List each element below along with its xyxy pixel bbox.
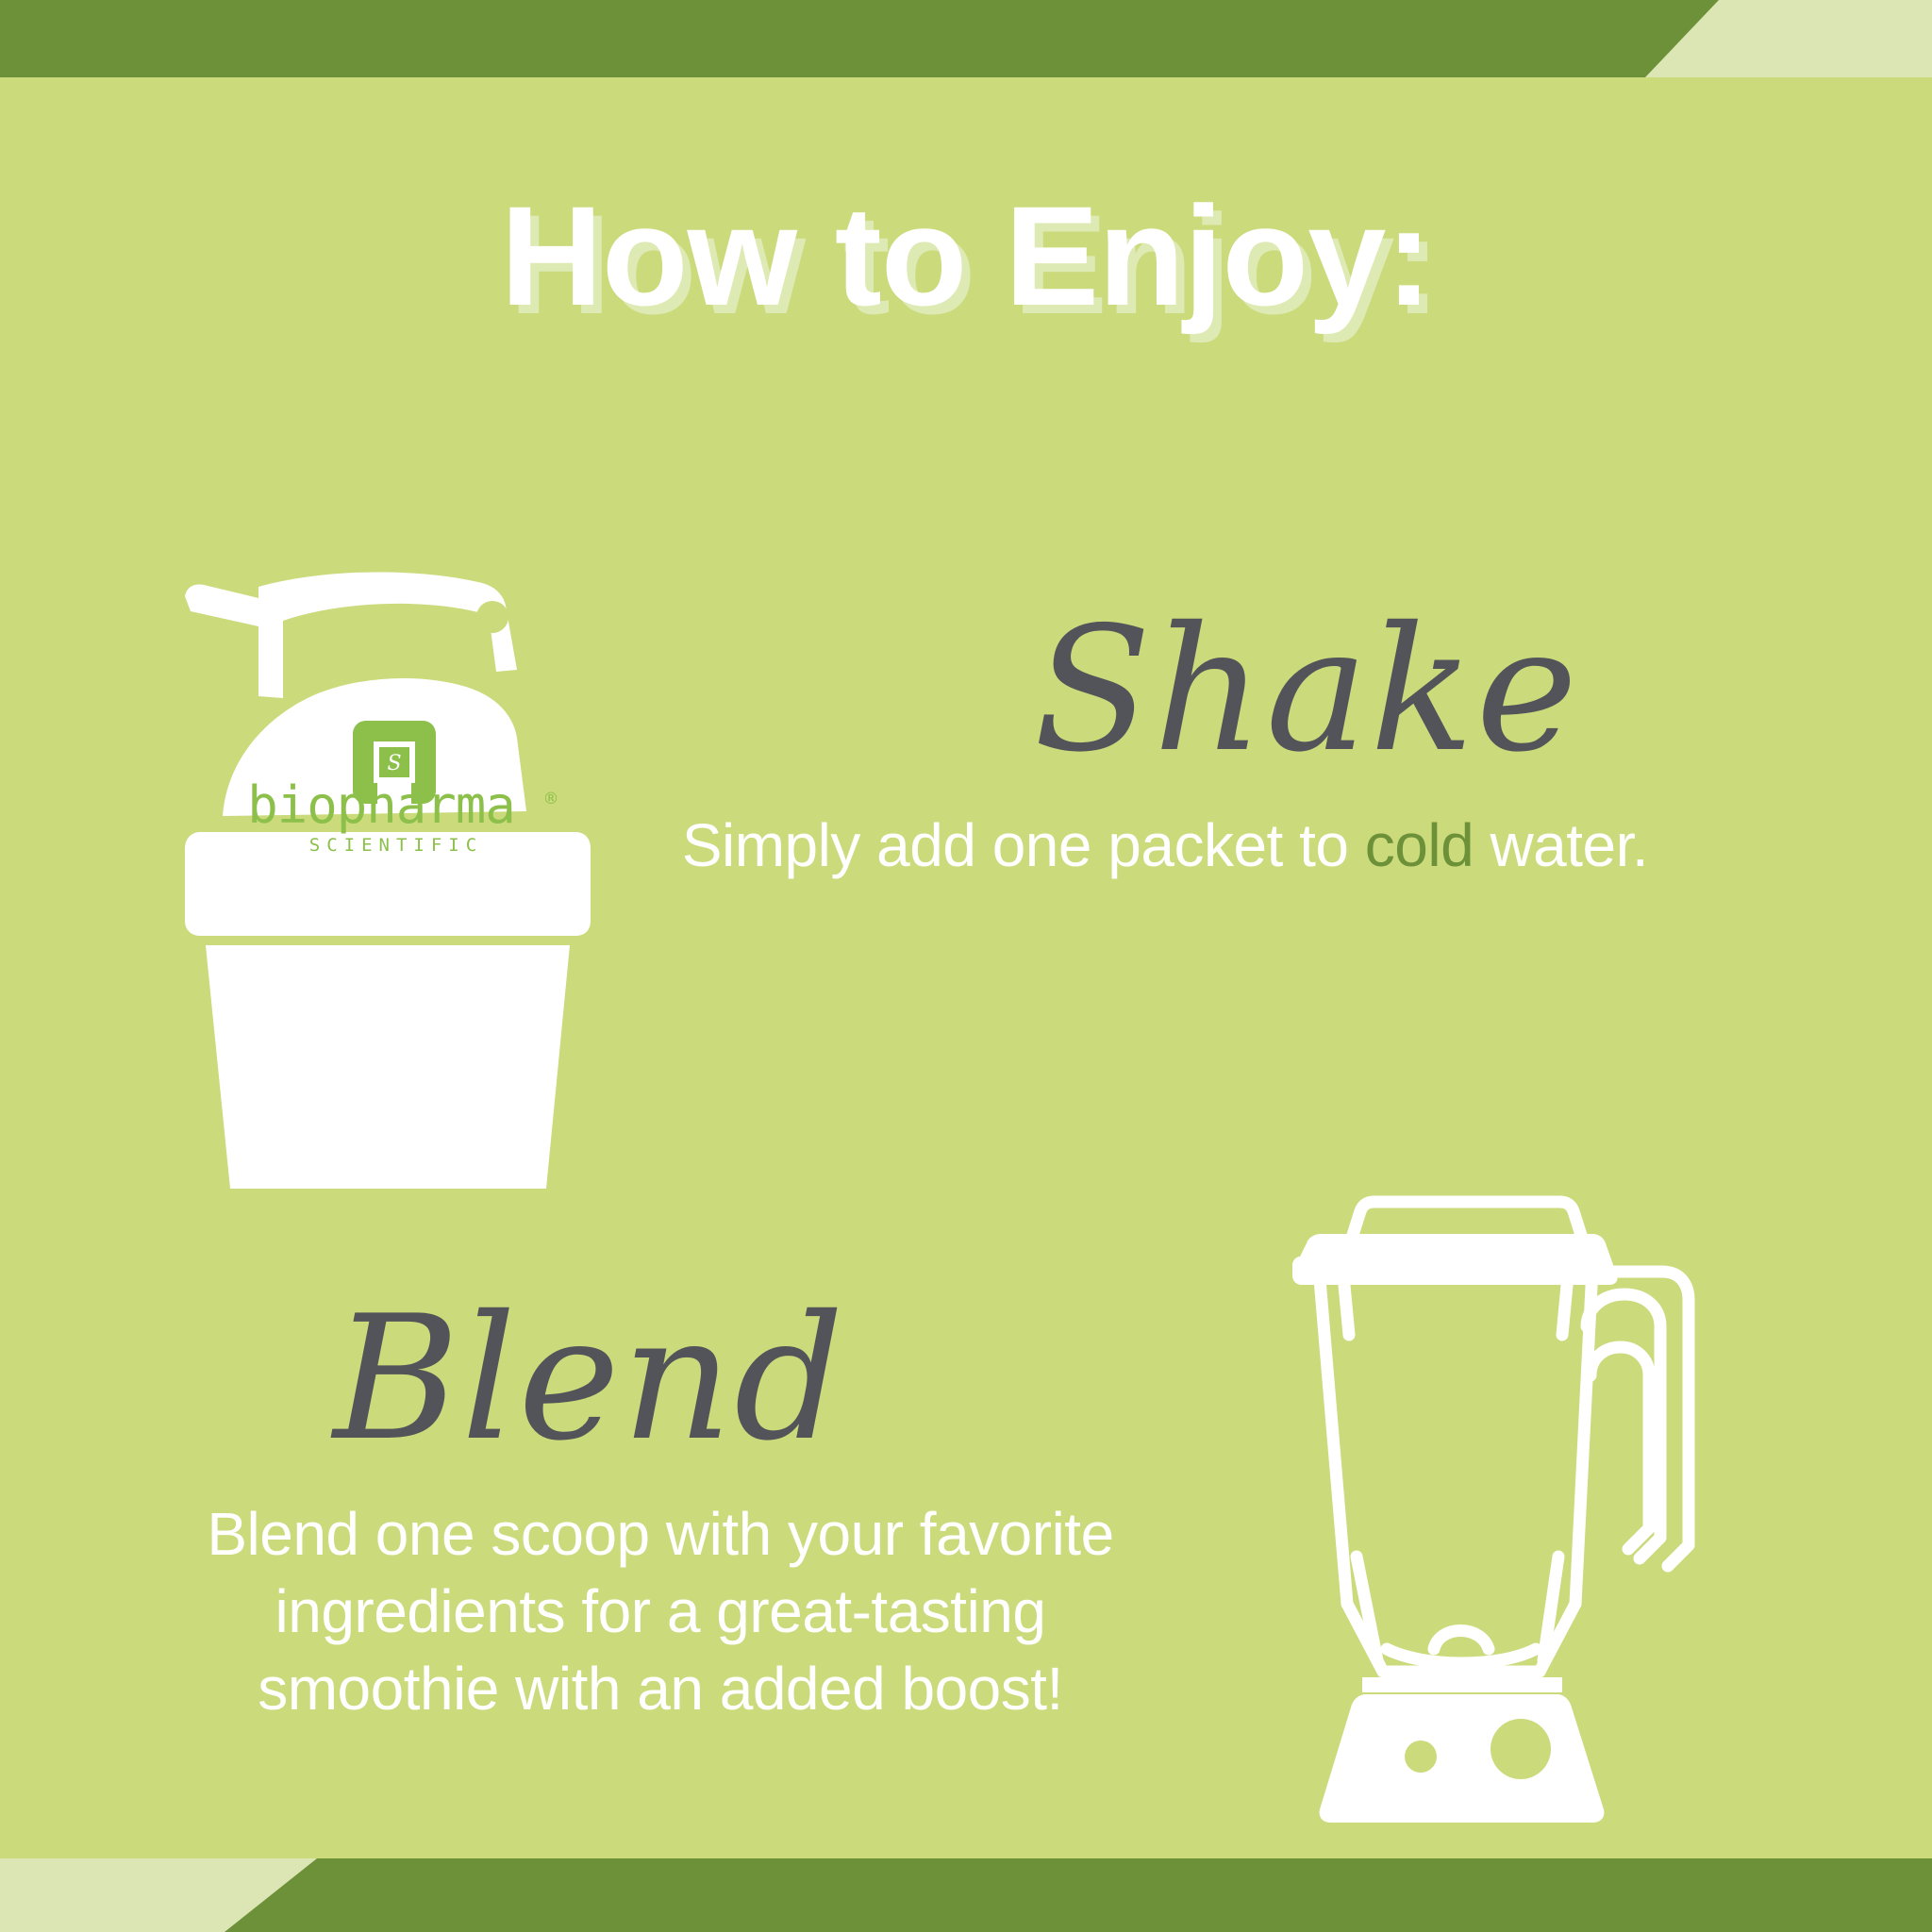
top-band-dark-wedge xyxy=(0,0,1932,77)
step-shake: Shake Simply add one packet to cold wate… xyxy=(585,604,1745,885)
step-blend: Blend Blend one scoop with your favorite… xyxy=(132,1292,1189,1728)
blender-small-knob xyxy=(1405,1740,1437,1773)
bottom-decorative-band xyxy=(0,1858,1932,1932)
step-blend-copy-line-3: smoothie with an added boost! xyxy=(132,1651,1189,1728)
step-blend-copy-line-1: Blend one scoop with your favorite xyxy=(132,1496,1189,1574)
infographic-canvas: How to Enjoy: S biopharma ® SCIENTIFIC xyxy=(0,0,1932,1932)
svg-text:biopharma: biopharma xyxy=(247,775,515,835)
step-blend-copy-line-2: ingredients for a great-tasting xyxy=(132,1574,1189,1651)
bottom-band-dark-wedge xyxy=(0,1858,1932,1932)
svg-text:SCIENTIFIC: SCIENTIFIC xyxy=(309,835,483,856)
page-title: How to Enjoy: xyxy=(0,185,1932,326)
top-decorative-band xyxy=(0,0,1932,77)
step-shake-copy-accent: cold xyxy=(1365,811,1474,879)
step-shake-copy-before: Simply add one packet to xyxy=(682,811,1365,879)
step-shake-copy-after: water. xyxy=(1474,811,1648,879)
svg-text:S: S xyxy=(387,752,401,775)
step-blend-script-label: Blend xyxy=(0,1292,1189,1464)
step-blend-copy: Blend one scoop with your favorite ingre… xyxy=(132,1496,1189,1728)
svg-text:®: ® xyxy=(543,790,559,808)
shaker-bottle-icon: S biopharma ® SCIENTIFIC xyxy=(185,528,591,1189)
step-shake-script-label: Shake xyxy=(868,604,1745,775)
blender-icon xyxy=(1292,1132,1764,1830)
blender-large-knob xyxy=(1491,1719,1551,1779)
step-shake-copy: Simply add one packet to cold water. xyxy=(585,808,1745,885)
